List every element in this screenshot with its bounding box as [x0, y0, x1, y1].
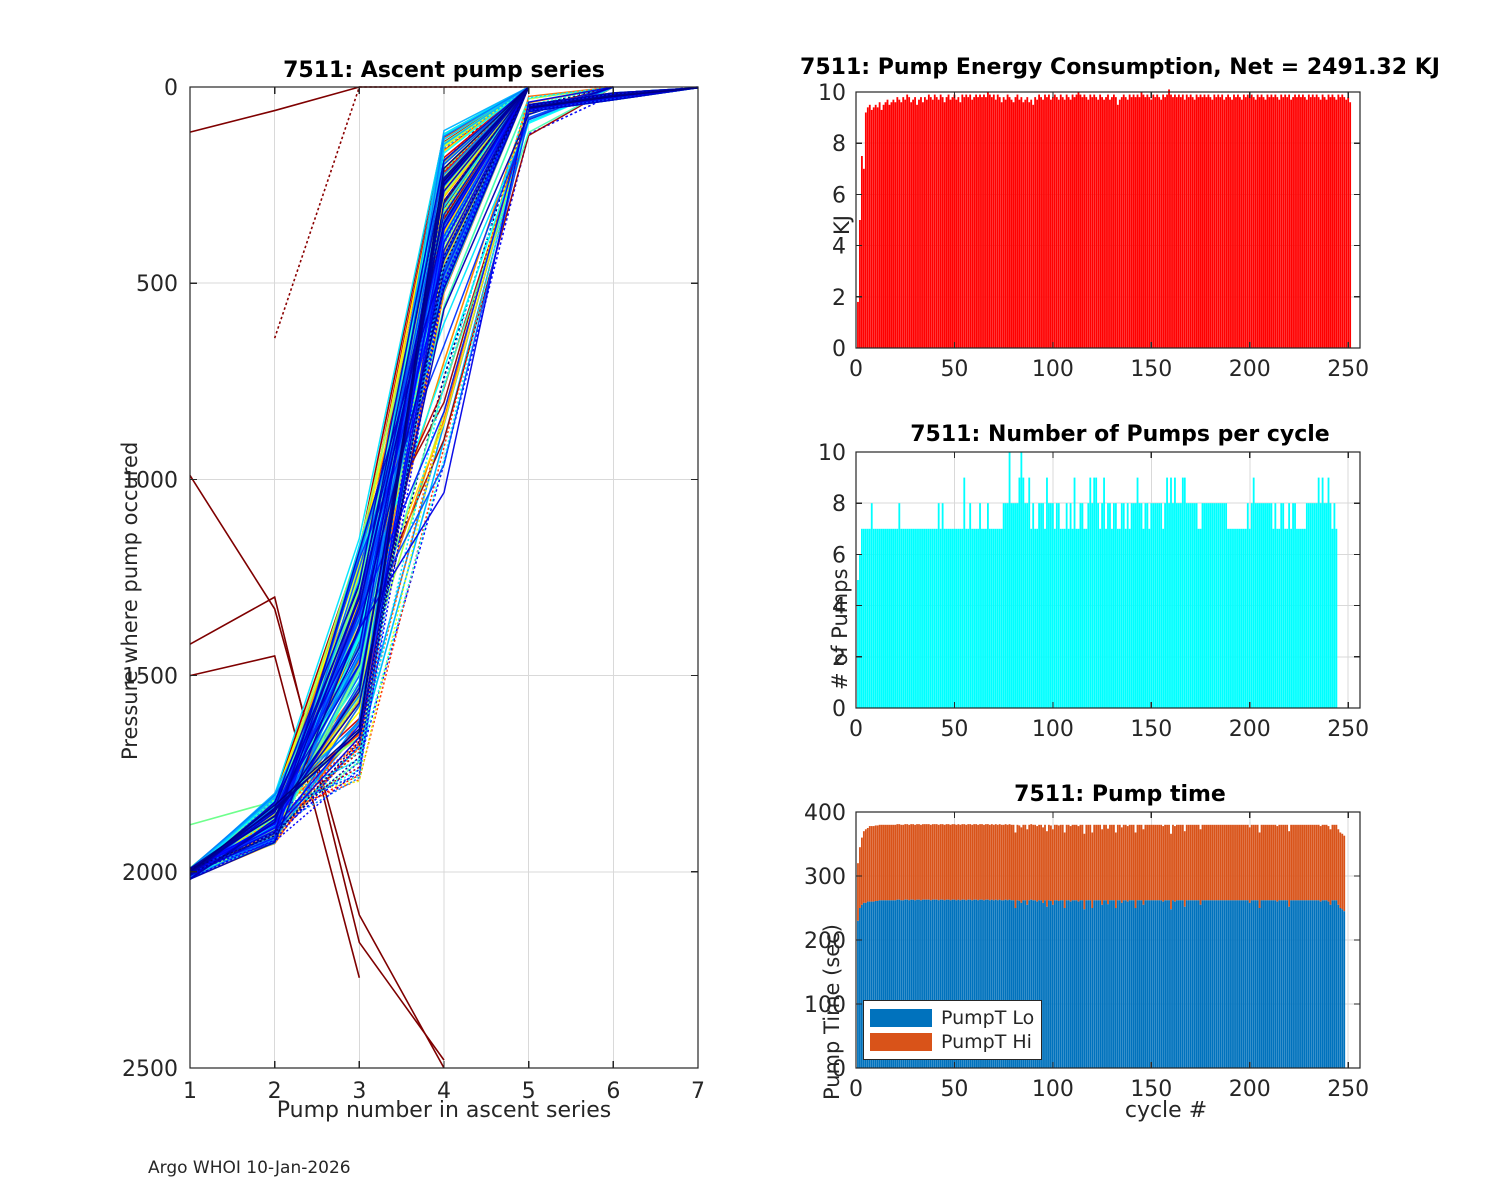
pumpt-hi-bar: [1247, 825, 1249, 901]
ascent-y-tick-label: 500: [136, 272, 178, 297]
pumps-bar: [1263, 503, 1265, 708]
pumpt-hi-bar: [1192, 825, 1194, 901]
pumps-bar: [1184, 478, 1186, 708]
pumpt-hi-bar: [1072, 825, 1074, 901]
pumpt-hi-bar: [1328, 826, 1330, 902]
energy-bar: [1056, 97, 1058, 348]
energy-bar: [910, 102, 912, 348]
energy-bar: [1095, 97, 1097, 348]
energy-x-tick-label: 150: [1130, 357, 1172, 382]
pumpt-hi-bar: [893, 825, 895, 901]
energy-bar: [1024, 100, 1026, 348]
pumps-bar: [887, 529, 889, 708]
pumpt-hi-bar: [1089, 825, 1091, 901]
pumpt-hi-bar: [859, 847, 861, 908]
energy-bar: [1009, 97, 1011, 348]
energy-bar: [908, 97, 910, 348]
pumps-bar: [1062, 529, 1064, 708]
pumps-bar: [1213, 503, 1215, 708]
energy-bar: [857, 302, 859, 348]
pumpt-lo-bar: [1158, 900, 1160, 1068]
pumpt-hi-bar: [906, 824, 908, 900]
energy-bar: [1046, 97, 1048, 348]
energy-bar: [1160, 100, 1162, 348]
energy-bar: [1186, 95, 1188, 348]
pumps-bar: [1290, 529, 1292, 708]
energy-bar: [1097, 100, 1099, 348]
pumpt-hi-bar: [1011, 825, 1013, 901]
pumpt-lo-bar: [1117, 900, 1119, 1068]
pumpt-hi-bar: [1298, 825, 1300, 901]
pumpt-lo-bar: [1172, 900, 1174, 1068]
pumpt-hi-bar: [1306, 825, 1308, 901]
pumpt-lo-bar: [1184, 907, 1186, 1068]
pumps-bar: [1036, 529, 1038, 708]
energy-bar: [1347, 97, 1349, 348]
pumpt-hi-bar: [1213, 825, 1215, 901]
pumpt-hi-bar: [1209, 825, 1211, 901]
pumpt-lo-bar: [1202, 900, 1204, 1068]
energy-bar: [1076, 95, 1078, 348]
pumpt-lo-bar: [1302, 900, 1304, 1068]
pumpt-hi-bar: [1259, 832, 1261, 908]
pumpt-lo-bar: [1048, 900, 1050, 1068]
energy-bar: [867, 107, 869, 348]
figure-footer-credit: Argo WHOI 10-Jan-2026: [148, 1158, 351, 1178]
pumpt-hi-bar: [934, 824, 936, 900]
energy-bar: [1300, 97, 1302, 348]
pumps-bar: [1318, 478, 1320, 708]
pumpt-hi-bar: [987, 824, 989, 900]
pumpt-lo-bar: [1176, 900, 1178, 1068]
pumps-bar: [1087, 503, 1089, 708]
pumpt-lo-bar: [1146, 900, 1148, 1068]
pumpt-hi-bar: [1044, 825, 1046, 901]
pumps-bar: [1322, 478, 1324, 708]
pumpt-hi-bar: [1265, 825, 1267, 901]
pumpt-hi-bar: [1115, 832, 1117, 908]
pumps-bar: [1316, 503, 1318, 708]
pumpt-lo-bar: [1141, 900, 1143, 1068]
energy-bar: [1247, 95, 1249, 348]
energy-bar: [916, 105, 918, 348]
panel-pump-time: 7511: Pump time 050100150200250010020030…: [740, 760, 1500, 1200]
energy-bar: [1276, 97, 1278, 348]
pumps-bar: [1139, 503, 1141, 708]
energy-bar: [1225, 97, 1227, 348]
ascent-y-axis-label: Pressure where pump occured: [118, 442, 142, 760]
energy-bar: [1227, 95, 1229, 348]
pumps-bar: [1335, 529, 1337, 708]
energy-bar: [1318, 97, 1320, 348]
pumpt-lo-bar: [1109, 900, 1111, 1068]
pumps-bar: [1196, 503, 1198, 708]
energy-bar: [1282, 97, 1284, 348]
pumps-bar: [928, 529, 930, 708]
energy-bar: [1229, 97, 1231, 348]
energy-bar: [1123, 95, 1125, 348]
pumpt-hi-bar: [1249, 827, 1251, 903]
pumpt-lo-bar: [1095, 900, 1097, 1068]
pumps-bar: [1328, 478, 1330, 708]
pumps-bar: [1015, 503, 1017, 708]
pumps-bar: [1200, 529, 1202, 708]
pumpt-hi-bar: [930, 825, 932, 901]
pumps-bar: [1300, 529, 1302, 708]
legend-item-pumpt-lo[interactable]: PumpT Lo: [870, 1006, 1034, 1030]
energy-bar: [1034, 97, 1036, 348]
energy-bar: [1082, 97, 1084, 348]
pumpt-lo-bar: [1245, 900, 1247, 1068]
energy-bar: [1243, 95, 1245, 348]
energy-bar: [1030, 100, 1032, 348]
energy-bar: [1184, 100, 1186, 348]
pumpt-hi-bar: [928, 824, 930, 900]
energy-bar: [861, 156, 863, 348]
pumps-bar: [1206, 503, 1208, 708]
pumpt-hi-bar: [1326, 825, 1328, 901]
pumpt-lo-bar: [1294, 900, 1296, 1068]
pumpt-lo-bar: [1239, 900, 1241, 1068]
pumpt-lo-bar: [1267, 900, 1269, 1068]
energy-bar: [1335, 100, 1337, 348]
energy-bar: [1233, 95, 1235, 348]
pumpt-lo-bar: [1180, 900, 1182, 1068]
pumps-bar: [1160, 503, 1162, 708]
pumpt-hi-bar: [1129, 825, 1131, 901]
pumpt-hi-bar: [894, 825, 896, 901]
energy-bar: [879, 102, 881, 348]
pumps-bar: [875, 529, 877, 708]
pumps-bar: [1123, 503, 1125, 708]
energy-bar: [928, 95, 930, 348]
pumps-bar: [1320, 503, 1322, 708]
pumpt-hi-bar: [1103, 825, 1105, 901]
pumps-bar: [1046, 478, 1048, 708]
pumpt-hi-bar: [979, 824, 981, 900]
energy-bar: [1091, 97, 1093, 348]
legend-item-pumpt-hi[interactable]: PumpT Hi: [870, 1030, 1034, 1054]
energy-bar: [1001, 102, 1003, 348]
pumpt-hi-bar: [1314, 825, 1316, 901]
pumps-bar: [1109, 503, 1111, 708]
energy-bar: [1119, 100, 1121, 348]
pumps-bar: [1310, 503, 1312, 708]
energy-y-tick-label: 10: [818, 81, 846, 106]
pumps-bar: [1121, 503, 1123, 708]
pumpt-lo-bar: [1044, 900, 1046, 1068]
pumpt-lo-bar: [1241, 900, 1243, 1068]
pumps-bar: [1170, 478, 1172, 708]
pumps-bar: [1152, 503, 1154, 708]
energy-bar: [1349, 102, 1351, 348]
pumpt-lo-bar: [1271, 900, 1273, 1068]
pumpt-hi-bar: [910, 824, 912, 900]
pumpt-hi-bar: [1172, 825, 1174, 901]
pumpt-lo-bar: [1152, 900, 1154, 1068]
pumpt-lo-bar: [1080, 900, 1082, 1068]
pumps-bar: [908, 529, 910, 708]
energy-bar: [1182, 95, 1184, 348]
pumpt-hi-bar: [1107, 829, 1109, 905]
energy-bar: [1332, 95, 1334, 348]
pumpt-hi-bar: [1253, 825, 1255, 901]
pumpt-hi-bar: [1015, 832, 1017, 908]
pumpt-hi-bar: [1137, 825, 1139, 901]
pumps-bar: [1156, 503, 1158, 708]
pumpt-hi-bar: [1339, 832, 1341, 908]
energy-bar: [1286, 97, 1288, 348]
pumpt-hi-bar: [983, 825, 985, 901]
pumpt-lo-bar: [1306, 900, 1308, 1068]
pumpt-lo-bar: [1284, 900, 1286, 1068]
energy-bar: [1294, 95, 1296, 348]
pumpt-lo-bar: [1052, 905, 1054, 1068]
pumps-bar: [1082, 503, 1084, 708]
pumpt-hi-bar: [950, 825, 952, 901]
energy-bar: [1192, 97, 1194, 348]
pumptime-y-axis-label: Pump Time (sec): [820, 924, 844, 1100]
pumps-bar: [1028, 478, 1030, 708]
pumps-bar: [1007, 503, 1009, 708]
pumpt-hi-bar: [877, 825, 879, 901]
energy-bar: [1154, 97, 1156, 348]
pumps-bar: [965, 529, 967, 708]
pumpt-hi-bar: [1235, 825, 1237, 901]
energy-bar: [936, 97, 938, 348]
pumpt-hi-bar: [1243, 825, 1245, 901]
pumpt-hi-bar: [1188, 825, 1190, 901]
pumpt-lo-bar: [1087, 900, 1089, 1068]
pumpt-lo-bar: [1145, 900, 1147, 1068]
pumpt-lo-bar: [1229, 900, 1231, 1068]
energy-bar: [987, 92, 989, 348]
pumps-bar: [1137, 478, 1139, 708]
pumpt-hi-bar: [1036, 826, 1038, 902]
pumpt-hi-bar: [1202, 825, 1204, 901]
energy-bar: [914, 97, 916, 348]
pumpt-hi-bar: [1105, 825, 1107, 901]
energy-bar: [893, 100, 895, 348]
pumps-bar: [934, 529, 936, 708]
energy-bar: [1101, 97, 1103, 348]
pumpt-lo-bar: [1316, 900, 1318, 1068]
pumpt-lo-bar: [1089, 900, 1091, 1068]
pumps-x-tick-label: 250: [1327, 717, 1369, 742]
pumptime-y-tick-label: 300: [804, 865, 846, 890]
pumpt-hi-bar: [1017, 825, 1019, 901]
pumps-bar: [1278, 529, 1280, 708]
pumps-x-tick-label: 100: [1032, 717, 1074, 742]
pumpt-hi-bar: [1091, 832, 1093, 908]
pumpt-hi-bar: [1186, 825, 1188, 901]
pumps-bar: [1145, 503, 1147, 708]
pumps-x-tick-label: 200: [1229, 717, 1271, 742]
energy-bar: [1213, 95, 1215, 348]
energy-bar: [1255, 100, 1257, 348]
pumpt-lo-bar: [1259, 908, 1261, 1068]
ascent-x-axis-label: Pump number in ascent series: [190, 1098, 698, 1123]
pumpt-hi-bar: [1070, 826, 1072, 902]
pumpt-hi-bar: [1233, 825, 1235, 901]
pumpt-lo-bar: [1206, 900, 1208, 1068]
pumpt-hi-bar: [1087, 825, 1089, 901]
pumpt-hi-bar: [1255, 825, 1257, 901]
pumpt-hi-bar: [1056, 825, 1058, 901]
pumpt-lo-bar: [1290, 900, 1292, 1068]
pumpt-hi-bar: [995, 824, 997, 900]
energy-bar: [1026, 97, 1028, 348]
energy-bar: [1345, 100, 1347, 348]
pumps-bar: [1280, 503, 1282, 708]
pumps-bar: [1182, 478, 1184, 708]
pumps-bar: [1194, 503, 1196, 708]
pumpt-hi-bar: [885, 825, 887, 901]
pumpt-hi-bar: [938, 825, 940, 901]
pumpt-hi-bar: [1196, 825, 1198, 901]
pumps-bar: [1058, 503, 1060, 708]
pumpt-lo-bar: [1129, 900, 1131, 1068]
pumps-bar: [1239, 529, 1241, 708]
pumpt-hi-bar: [857, 863, 859, 921]
energy-bar: [1231, 100, 1233, 348]
energy-plot-canvas: 0501001502002500246810: [740, 0, 1500, 400]
pumpt-lo-bar: [1107, 904, 1109, 1068]
pumps-bar: [999, 529, 1001, 708]
energy-bar: [993, 95, 995, 348]
pumpt-lo-bar: [1078, 902, 1080, 1068]
energy-bar: [1156, 95, 1158, 348]
pumpt-lo-bar: [1082, 900, 1084, 1068]
energy-bar: [1137, 95, 1139, 348]
energy-bar: [1062, 97, 1064, 348]
pumpt-hi-bar: [1032, 825, 1034, 901]
energy-bar: [1263, 97, 1265, 348]
pumpt-lo-bar: [1200, 905, 1202, 1068]
pumpt-lo-bar: [1160, 900, 1162, 1068]
energy-bar: [1206, 97, 1208, 348]
pumpt-hi-bar: [1200, 829, 1202, 905]
pumpt-lo-bar: [1227, 900, 1229, 1068]
pumpt-hi-bar: [1174, 826, 1176, 902]
pumpt-lo-bar: [1269, 900, 1271, 1068]
pumps-bar: [959, 529, 961, 708]
pumps-bar: [963, 478, 965, 708]
energy-bar: [1083, 95, 1085, 348]
pumpt-lo-bar: [1135, 908, 1137, 1068]
energy-bar: [1259, 97, 1261, 348]
energy-bar: [975, 95, 977, 348]
pumps-bar: [1332, 529, 1334, 708]
pumpt-hi-bar: [1046, 831, 1048, 907]
pumpt-lo-bar: [1076, 900, 1078, 1068]
pumps-bar: [1334, 503, 1336, 708]
pumps-bar: [1237, 529, 1239, 708]
pumps-bar: [1085, 529, 1087, 708]
pumps-bar: [1103, 478, 1105, 708]
pumps-bar: [918, 529, 920, 708]
energy-bar: [940, 95, 942, 348]
pumpt-hi-bar: [1269, 825, 1271, 901]
pumpt-lo-bar: [1097, 900, 1099, 1068]
energy-bar: [894, 102, 896, 348]
pumpt-hi-bar: [1160, 825, 1162, 901]
pumpt-lo-bar: [1257, 900, 1259, 1068]
pumpt-hi-bar: [916, 824, 918, 900]
pumpt-lo-bar: [1274, 900, 1276, 1068]
pumps-bar: [1080, 503, 1082, 708]
pumpt-hi-bar: [1093, 825, 1095, 901]
pumpt-hi-bar: [1225, 825, 1227, 901]
energy-bar: [875, 105, 877, 348]
pumpt-lo-bar: [1101, 905, 1103, 1068]
pumpt-hi-bar: [1048, 825, 1050, 901]
pumps-bar: [1097, 503, 1099, 708]
pumpt-hi-bar: [1083, 834, 1085, 910]
pumpt-lo-bar: [1166, 900, 1168, 1068]
pumpt-hi-bar: [1050, 825, 1052, 901]
pumpt-hi-bar: [1322, 825, 1324, 901]
pumps-bar: [865, 529, 867, 708]
pumpt-hi-bar: [873, 826, 875, 902]
pumps-bar: [1133, 503, 1135, 708]
pumpt-hi-bar: [920, 825, 922, 901]
panel-pump-energy: 7511: Pump Energy Consumption, Net = 249…: [740, 0, 1500, 400]
pumps-bar: [910, 529, 912, 708]
energy-bar: [963, 97, 965, 348]
pumpt-lo-bar: [1133, 900, 1135, 1068]
pumpt-lo-bar: [1339, 908, 1341, 1068]
pumps-bar: [1113, 503, 1115, 708]
pumptime-legend[interactable]: PumpT LoPumpT Hi: [863, 1000, 1042, 1060]
pumpt-hi-bar: [891, 825, 893, 901]
energy-bar: [1284, 95, 1286, 348]
pumpt-lo-bar: [1308, 900, 1310, 1068]
energy-bar: [1194, 100, 1196, 348]
pumpt-hi-bar: [959, 825, 961, 901]
pumps-bar: [930, 529, 932, 708]
pumps-bar: [1208, 503, 1210, 708]
pumpt-hi-bar: [1332, 825, 1334, 901]
pumps-bar: [1105, 529, 1107, 708]
energy-bar: [924, 97, 926, 348]
pumps-bar: [1172, 503, 1174, 708]
pumpt-lo-bar: [1121, 903, 1123, 1068]
pumpt-hi-bar: [1152, 825, 1154, 901]
pumpt-hi-bar: [869, 826, 871, 902]
pumpt-lo-bar: [1127, 902, 1129, 1068]
pumpt-hi-bar: [904, 824, 906, 900]
energy-bar: [1078, 92, 1080, 348]
energy-bar: [1304, 97, 1306, 348]
pumpt-hi-bar: [985, 824, 987, 900]
pumps-bar: [893, 529, 895, 708]
pumpt-lo-bar: [1143, 905, 1145, 1068]
energy-bar: [889, 105, 891, 348]
pumps-bar: [912, 529, 914, 708]
pumpt-lo-bar: [1111, 900, 1113, 1068]
pumpt-hi-bar: [1148, 825, 1150, 901]
energy-bar: [1198, 97, 1200, 348]
energy-bar: [973, 97, 975, 348]
energy-bar: [1058, 100, 1060, 348]
energy-bar: [959, 102, 961, 348]
pumpt-hi-bar: [1154, 825, 1156, 901]
pumpt-hi-bar: [954, 824, 956, 900]
energy-bar: [877, 107, 879, 348]
pumpt-hi-bar: [1271, 825, 1273, 901]
energy-bar: [1322, 95, 1324, 348]
